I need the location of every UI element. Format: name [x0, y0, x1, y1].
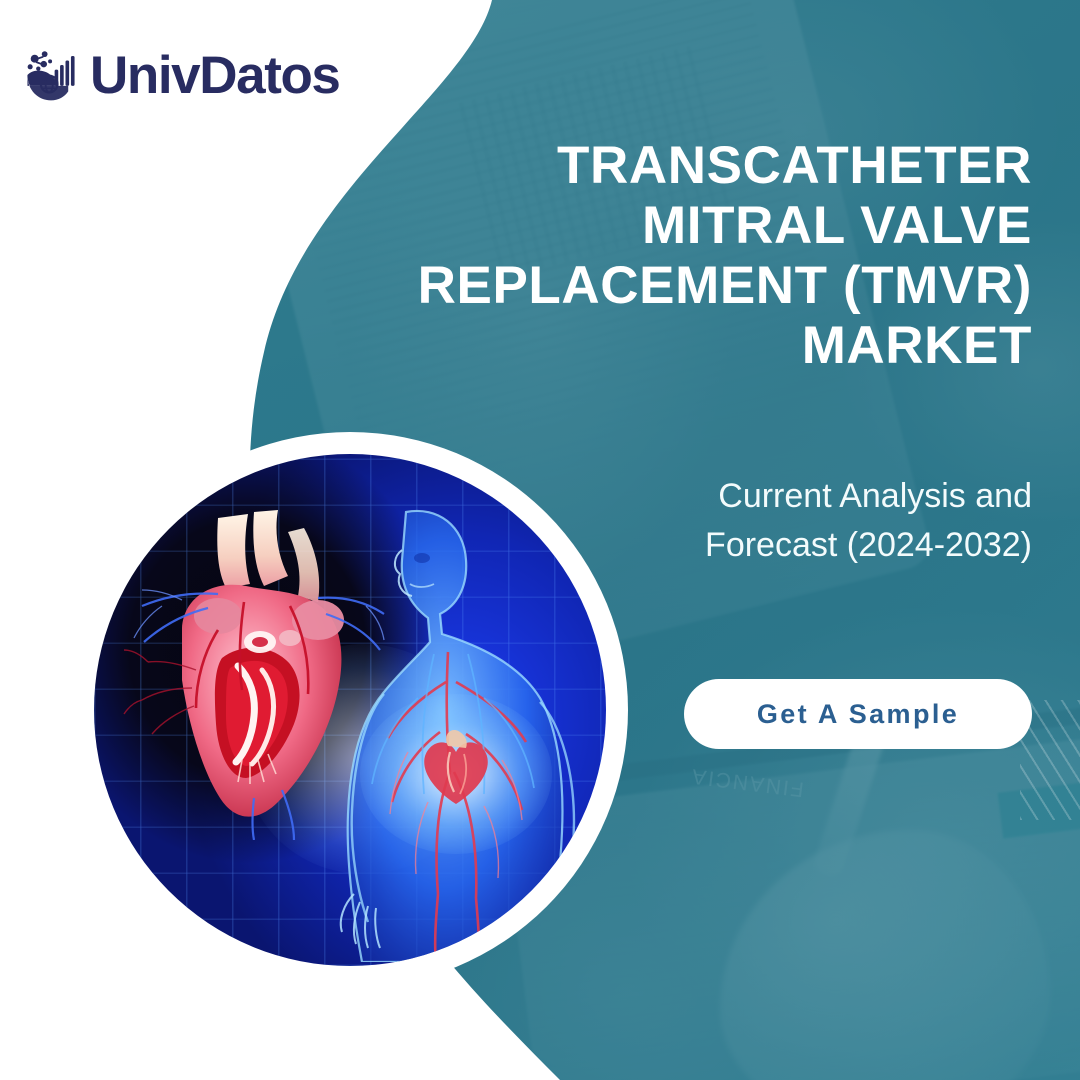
- globe-barchart-network-icon: [22, 46, 80, 104]
- title-line: REPLACEMENT (TMVR): [412, 256, 1032, 316]
- page-subtitle: Current Analysis and Forecast (2024-2032…: [512, 472, 1032, 571]
- subtitle-line: Forecast (2024-2032): [512, 521, 1032, 570]
- page-title: TRANSCATHETER MITRAL VALVE REPLACEMENT (…: [412, 136, 1032, 376]
- title-line: MITRAL VALVE: [412, 196, 1032, 256]
- subtitle-line: Current Analysis and: [512, 472, 1032, 521]
- promo-banner: FINANCIA: [0, 0, 1080, 1080]
- get-a-sample-button[interactable]: Get A Sample: [684, 679, 1032, 749]
- brand-name: UnivDatos: [90, 49, 340, 102]
- title-line: MARKET: [412, 316, 1032, 376]
- brand-logo[interactable]: UnivDatos: [22, 46, 340, 104]
- get-a-sample-label: Get A Sample: [757, 699, 959, 730]
- heart-cross-section-illustration: [122, 510, 392, 840]
- title-line: TRANSCATHETER: [412, 136, 1032, 196]
